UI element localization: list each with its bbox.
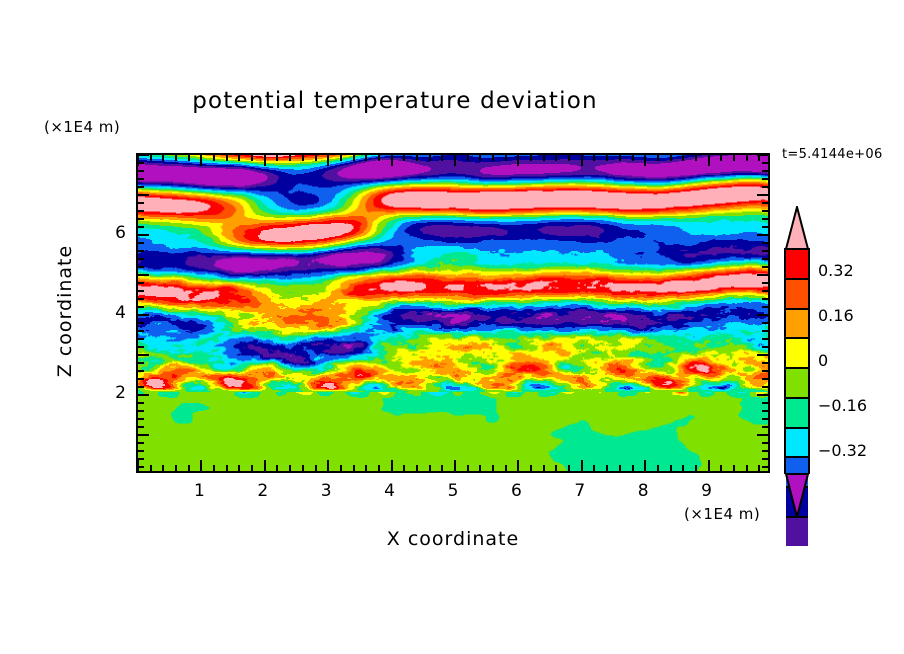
x-tick-label: 9: [692, 481, 722, 501]
temperature-deviation-field: [138, 155, 768, 471]
colorbar-band: [786, 518, 808, 546]
colorbar-band: [786, 310, 808, 340]
y-tick-label: 2: [96, 383, 126, 403]
time-annotation: t=5.4144e+06: [782, 147, 883, 162]
x-tick-label: 8: [628, 481, 658, 501]
x-tick-label: 1: [184, 481, 214, 501]
y-tick-label: 4: [96, 303, 126, 323]
y-tick-label: 6: [96, 223, 126, 243]
colorbar: 0.320.160−0.16−0.32: [784, 206, 810, 516]
colorbar-label: 0.32: [818, 261, 854, 280]
x-axis-title: X coordinate: [136, 528, 770, 550]
x-axis-unit-label: (×1E4 m): [684, 505, 760, 523]
colorbar-label: 0.16: [818, 306, 854, 325]
x-tick-label: 2: [248, 481, 278, 501]
page-title: potential temperature deviation: [0, 88, 790, 114]
colorbar-over-arrow: [784, 206, 810, 250]
contour-plot-panel: [136, 153, 770, 473]
x-tick-label: 7: [565, 481, 595, 501]
x-tick-label: 4: [375, 481, 405, 501]
colorbar-band: [786, 339, 808, 369]
x-tick-label: 3: [311, 481, 341, 501]
colorbar-bands: [784, 248, 810, 474]
x-tick-label: 5: [438, 481, 468, 501]
y-axis-title: Z coordinate: [54, 211, 76, 411]
x-tick-label: 6: [501, 481, 531, 501]
colorbar-label: 0: [818, 351, 828, 370]
colorbar-label: −0.32: [818, 441, 867, 460]
z-axis-unit-label: (×1E4 m): [44, 118, 120, 136]
colorbar-band: [786, 280, 808, 310]
colorbar-band: [786, 250, 808, 280]
colorbar-under-arrow: [784, 472, 810, 518]
colorbar-band: [786, 429, 808, 459]
colorbar-band: [786, 369, 808, 399]
colorbar-band: [786, 399, 808, 429]
colorbar-label: −0.16: [818, 396, 867, 415]
